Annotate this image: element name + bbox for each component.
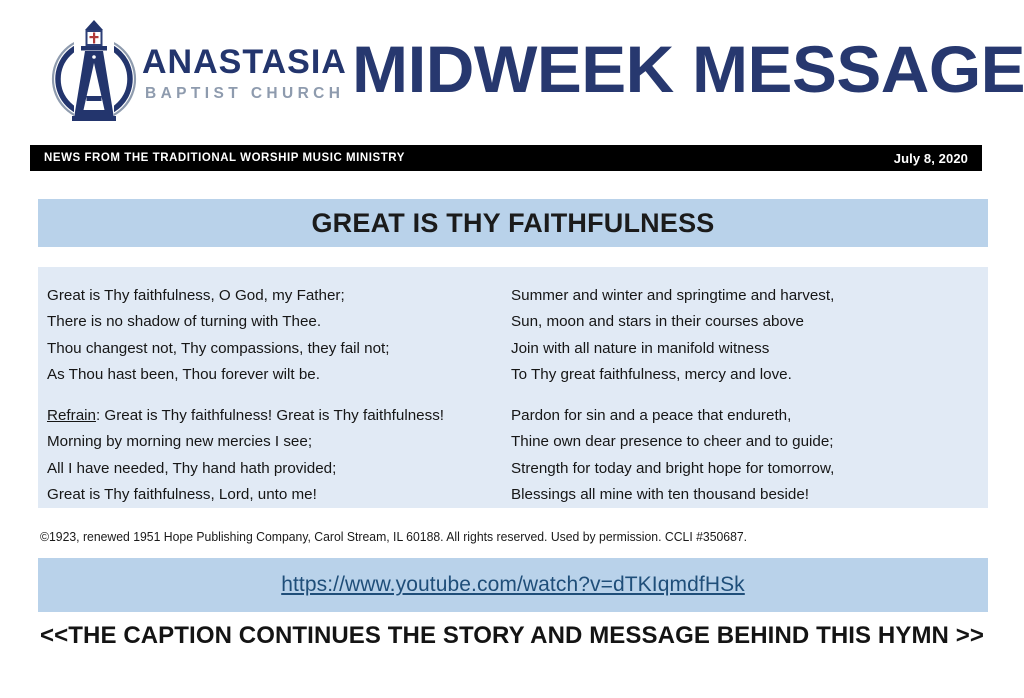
hymn-title-banner: GREAT IS THY FAITHFULNESS [38,199,988,247]
caption-footer: <<THE CAPTION CONTINUES THE STORY AND ME… [0,622,1024,650]
lyric-line: Thou changest not, Thy compassions, they… [47,336,508,362]
hymn-lyrics-panel: Great is Thy faithfulness, O God, my Fat… [38,267,988,508]
lyric-line: Summer and winter and springtime and har… [511,283,988,309]
lyric-line: Sun, moon and stars in their courses abo… [511,309,988,335]
church-logo: ANASTASIA BAPTIST CHURCH [40,6,347,126]
lyric-line: There is no shadow of turning with Thee. [47,309,508,335]
lyric-line: All I have needed, Thy hand hath provide… [47,456,508,482]
video-link-bar: https://www.youtube.com/watch?v=dTKIqmdf… [38,558,988,612]
refrain-first-line: : Great is Thy faithfulness! Great is Th… [96,407,444,424]
issue-date: July 8, 2020 [894,151,968,166]
lyric-line: Thine own dear presence to cheer and to … [511,429,988,455]
lyrics-column-left: Great is Thy faithfulness, O God, my Fat… [38,283,508,508]
lyric-line: Great is Thy faithfulness, O God, my Fat… [47,283,508,309]
logo-church-name: ANASTASIA [142,45,347,79]
page-header: ANASTASIA BAPTIST CHURCH MIDWEEK MESSAGE [0,0,1024,138]
masthead-title: MIDWEEK MESSAGE [352,36,1024,102]
lyric-line: As Thou hast been, Thou forever wilt be. [47,362,508,388]
lyric-line: Morning by morning new mercies I see; [47,429,508,455]
lyric-line: Blessings all mine with ten thousand bes… [511,482,988,508]
lyric-line: Great is Thy faithfulness, Lord, unto me… [47,482,508,508]
logo-church-subtitle: BAPTIST CHURCH [145,86,347,102]
lyric-line-refrain-head: Refrain: Great is Thy faithfulness! Grea… [47,403,508,429]
lyric-line: To Thy great faithfulness, mercy and lov… [511,362,988,388]
refrain-label: Refrain [47,407,96,424]
caption-text: <<THE CAPTION CONTINUES THE STORY AND ME… [40,622,984,649]
stanza-refrain: Refrain: Great is Thy faithfulness! Grea… [47,403,508,508]
lyrics-column-right: Summer and winter and springtime and har… [508,283,988,508]
lyric-line: Pardon for sin and a peace that endureth… [511,403,988,429]
lyric-line: Strength for today and bright hope for t… [511,456,988,482]
stanza: Pardon for sin and a peace that endureth… [511,403,988,508]
stanza: Great is Thy faithfulness, O God, my Fat… [47,283,508,388]
youtube-video-link[interactable]: https://www.youtube.com/watch?v=dTKIqmdf… [281,573,745,597]
newsletter-page: ANASTASIA BAPTIST CHURCH MIDWEEK MESSAGE… [0,0,1024,698]
logo-wordmark: ANASTASIA BAPTIST CHURCH [142,31,347,102]
copyright-notice: ©1923, renewed 1951 Hope Publishing Comp… [40,530,956,544]
news-bar-label: NEWS FROM THE TRADITIONAL WORSHIP MUSIC … [44,152,405,164]
stanza: Summer and winter and springtime and har… [511,283,988,388]
lighthouse-in-circle-icon [40,6,148,126]
news-bar: NEWS FROM THE TRADITIONAL WORSHIP MUSIC … [30,145,982,171]
hymn-title-text: GREAT IS THY FAITHFULNESS [311,208,714,239]
lyric-line: Join with all nature in manifold witness [511,336,988,362]
